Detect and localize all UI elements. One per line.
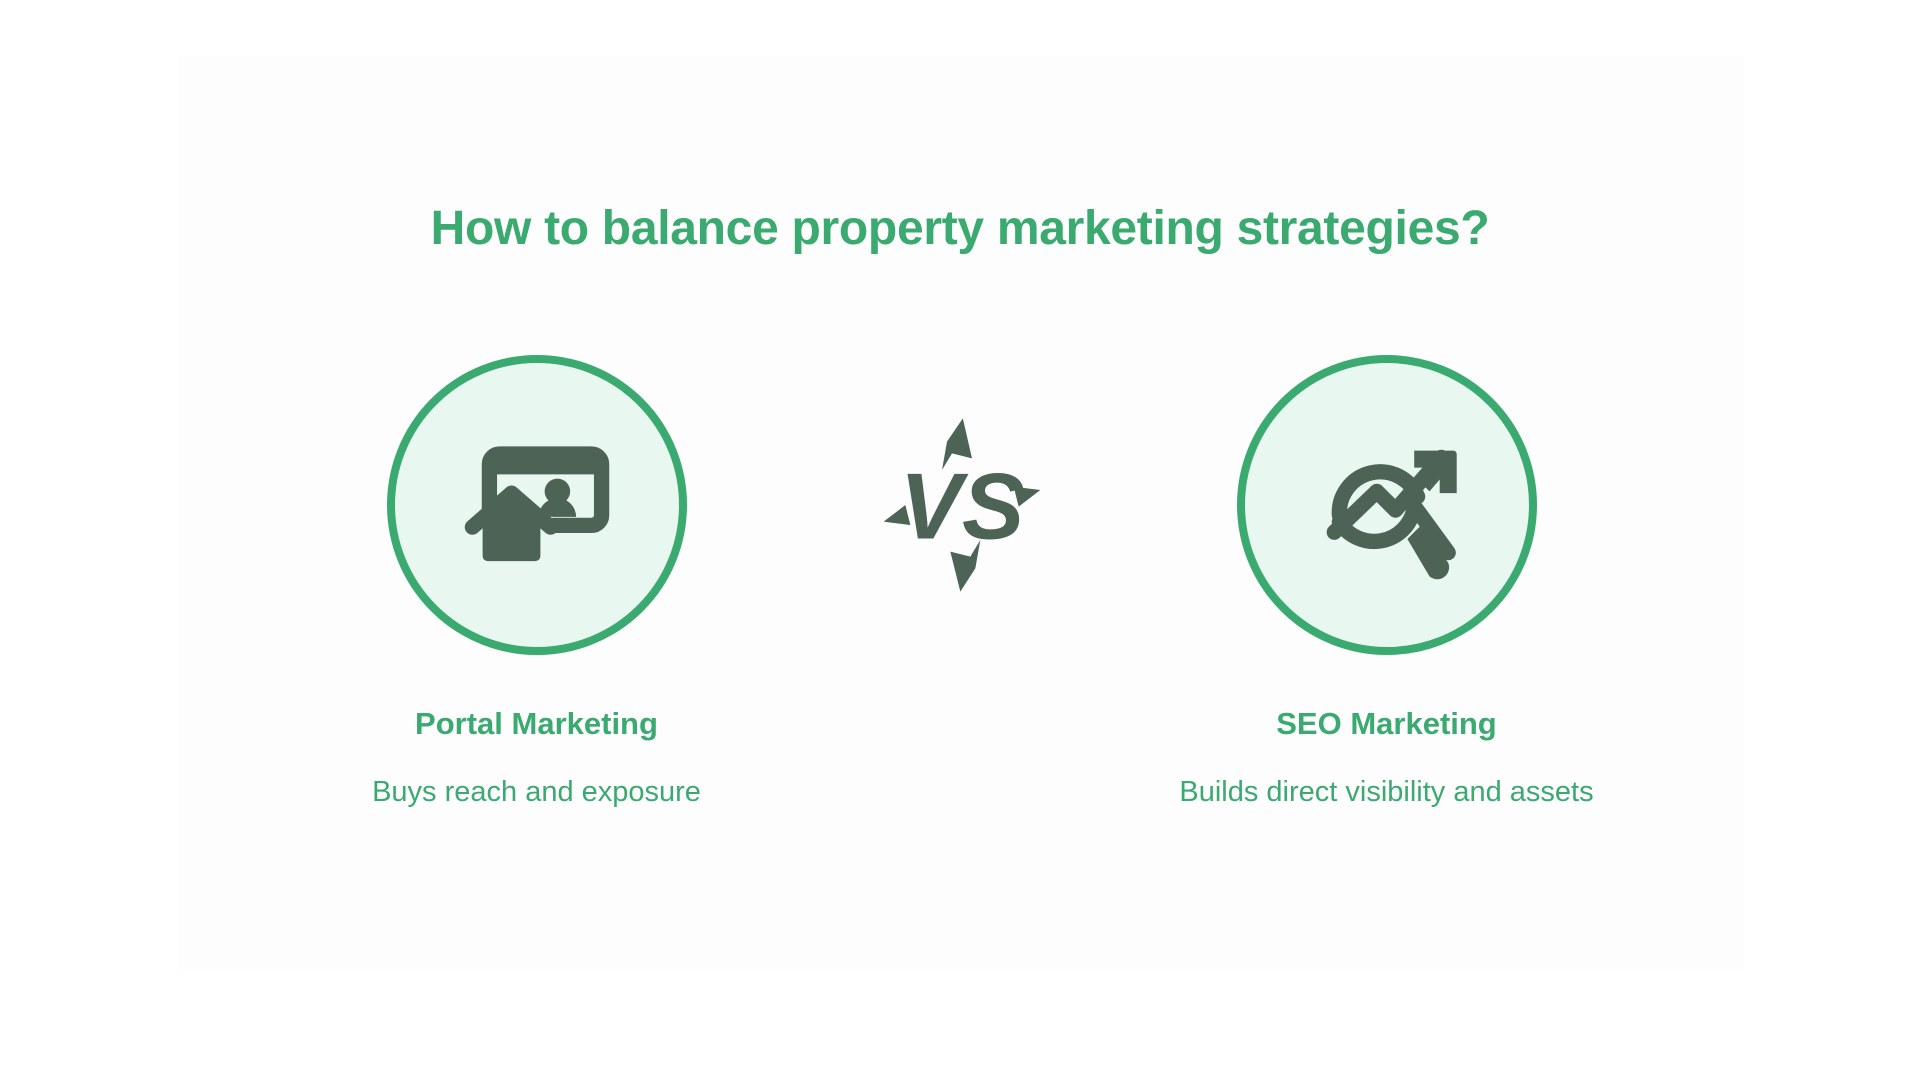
comparison-item-seo-marketing: SEO Marketing Builds direct visibility a… <box>1087 355 1687 809</box>
versus-label: VS <box>899 454 1024 558</box>
versus-badge: VS <box>837 355 1087 655</box>
portal-listing-screen-icon <box>452 420 622 590</box>
portal-marketing-label: Portal Marketing <box>415 706 658 742</box>
seo-marketing-description: Builds direct visibility and assets <box>1179 776 1593 809</box>
portal-marketing-description: Buys reach and exposure <box>372 776 701 809</box>
comparison-row: Portal Marketing Buys reach and exposure… <box>178 355 1745 775</box>
seo-marketing-label: SEO Marketing <box>1276 706 1497 742</box>
slide-canvas: How to balance property marketing strate… <box>0 0 1920 1080</box>
comparison-item-portal-marketing: Portal Marketing Buys reach and exposure <box>237 355 837 809</box>
seo-marketing-icon-circle <box>1237 355 1537 655</box>
seo-search-growth-icon <box>1302 420 1472 590</box>
portal-marketing-icon-circle <box>387 355 687 655</box>
page-title: How to balance property marketing strate… <box>0 201 1920 256</box>
